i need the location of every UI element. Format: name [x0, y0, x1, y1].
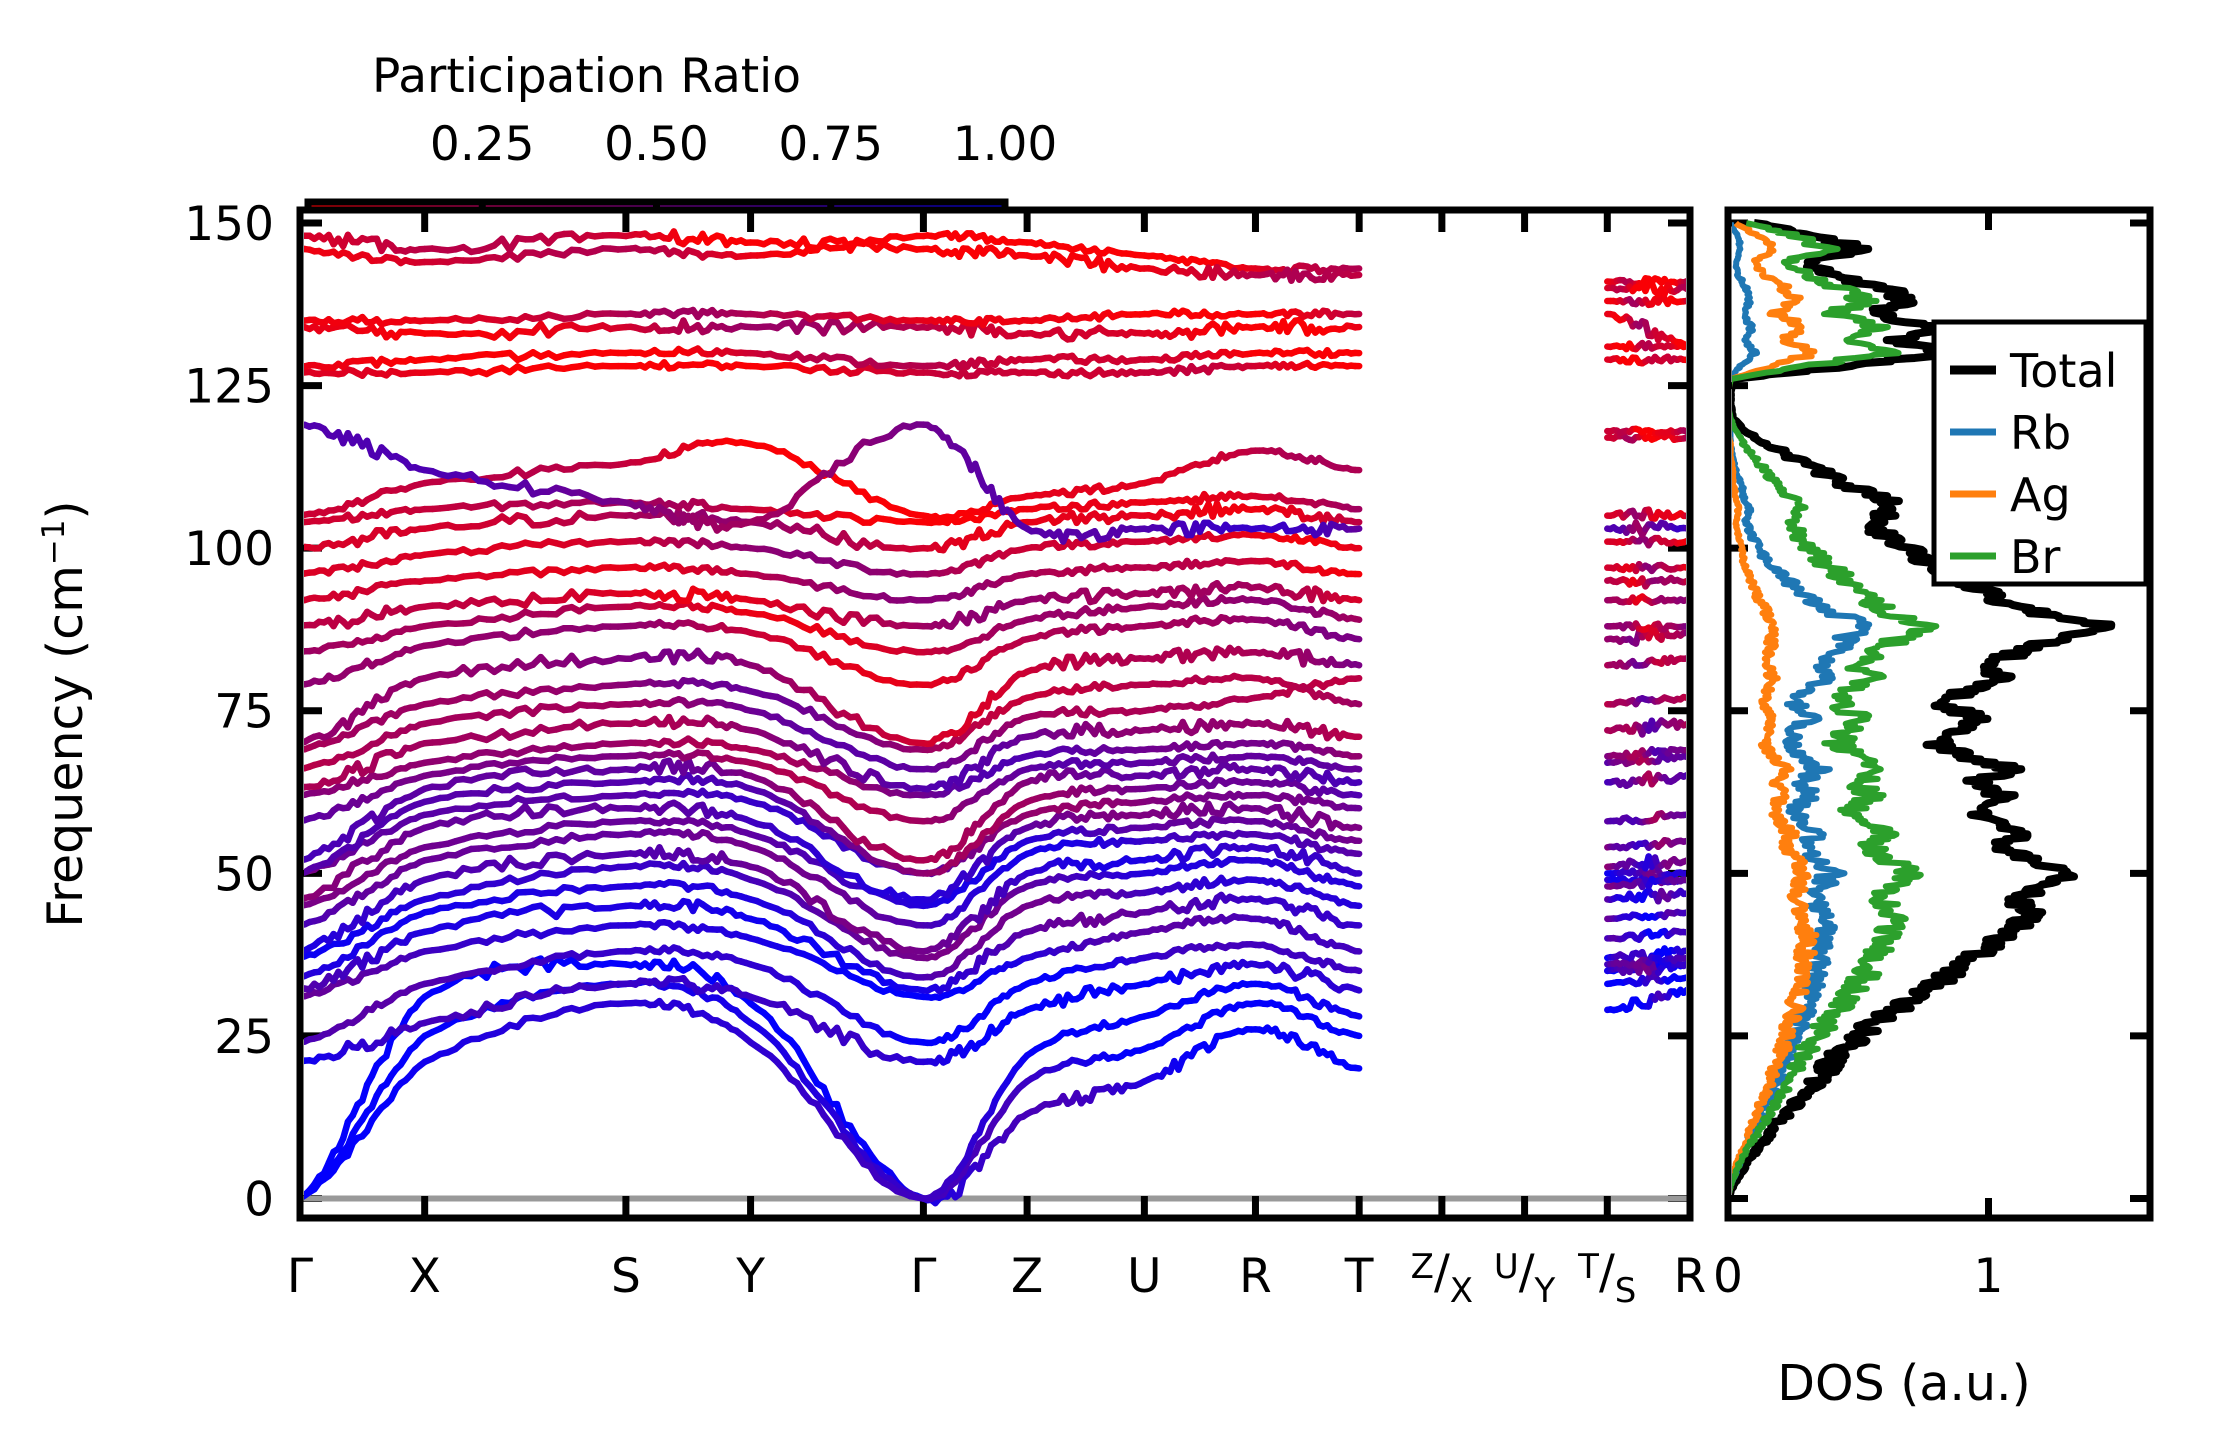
band-xtick-label-4: Γ [910, 1249, 936, 1304]
band-xtick-label-12: R [1674, 1249, 1707, 1304]
dos-xlabel: DOS (a.u.) [1777, 1355, 2030, 1412]
band-xtick-label-8: T [1344, 1249, 1374, 1304]
colorbar-title: Participation Ratio [372, 49, 801, 104]
colorbar-tick-label-1: 0.50 [604, 117, 709, 172]
band-xtick-label-2: S [611, 1249, 641, 1304]
band-xtick-label-6: U [1127, 1249, 1161, 1304]
band-xtick-label-5: Z [1011, 1249, 1043, 1304]
band-ytick-label-5: 125 [184, 360, 274, 415]
legend-label-ag: Ag [2010, 468, 2071, 522]
colorbar-tick-label-3: 1.00 [953, 117, 1058, 172]
dos-xtick-label-0: 0 [1713, 1249, 1743, 1304]
band-xtick-label-9: Z/X [1411, 1245, 1473, 1311]
legend-label-br: Br [2010, 530, 2061, 584]
dos-xtick-label-1: 1 [1974, 1249, 2004, 1304]
band-xtick-label-0: Γ [287, 1249, 313, 1304]
band-ylabel: Frequency (cm−1) [36, 500, 94, 927]
legend-label-rb: Rb [2010, 406, 2071, 460]
band-ytick-label-3: 75 [214, 685, 274, 740]
phonon-figure: Participation Ratio0.250.500.751.0002550… [0, 0, 2222, 1455]
band-ytick-label-0: 0 [244, 1172, 274, 1227]
band-ytick-label-4: 100 [184, 522, 274, 577]
colorbar-tick-label-0: 0.25 [430, 117, 535, 172]
legend-label-total: Total [2009, 344, 2117, 398]
svg-text:Frequency (cm−1): Frequency (cm−1) [36, 500, 94, 927]
band-xtick-label-1: X [409, 1249, 441, 1304]
band-xtick-label-10: U/Y [1494, 1245, 1556, 1311]
band-ytick-label-2: 50 [214, 847, 274, 902]
band-ytick-label-1: 25 [214, 1010, 274, 1065]
figure-canvas: Participation Ratio0.250.500.751.0002550… [0, 0, 2222, 1455]
band-xtick-label-11: T/S [1577, 1245, 1636, 1311]
colorbar-tick-label-2: 0.75 [778, 117, 883, 172]
band-ytick-label-6: 150 [184, 197, 274, 252]
band-xtick-label-3: Y [735, 1249, 765, 1304]
band-xtick-label-7: R [1239, 1249, 1272, 1304]
